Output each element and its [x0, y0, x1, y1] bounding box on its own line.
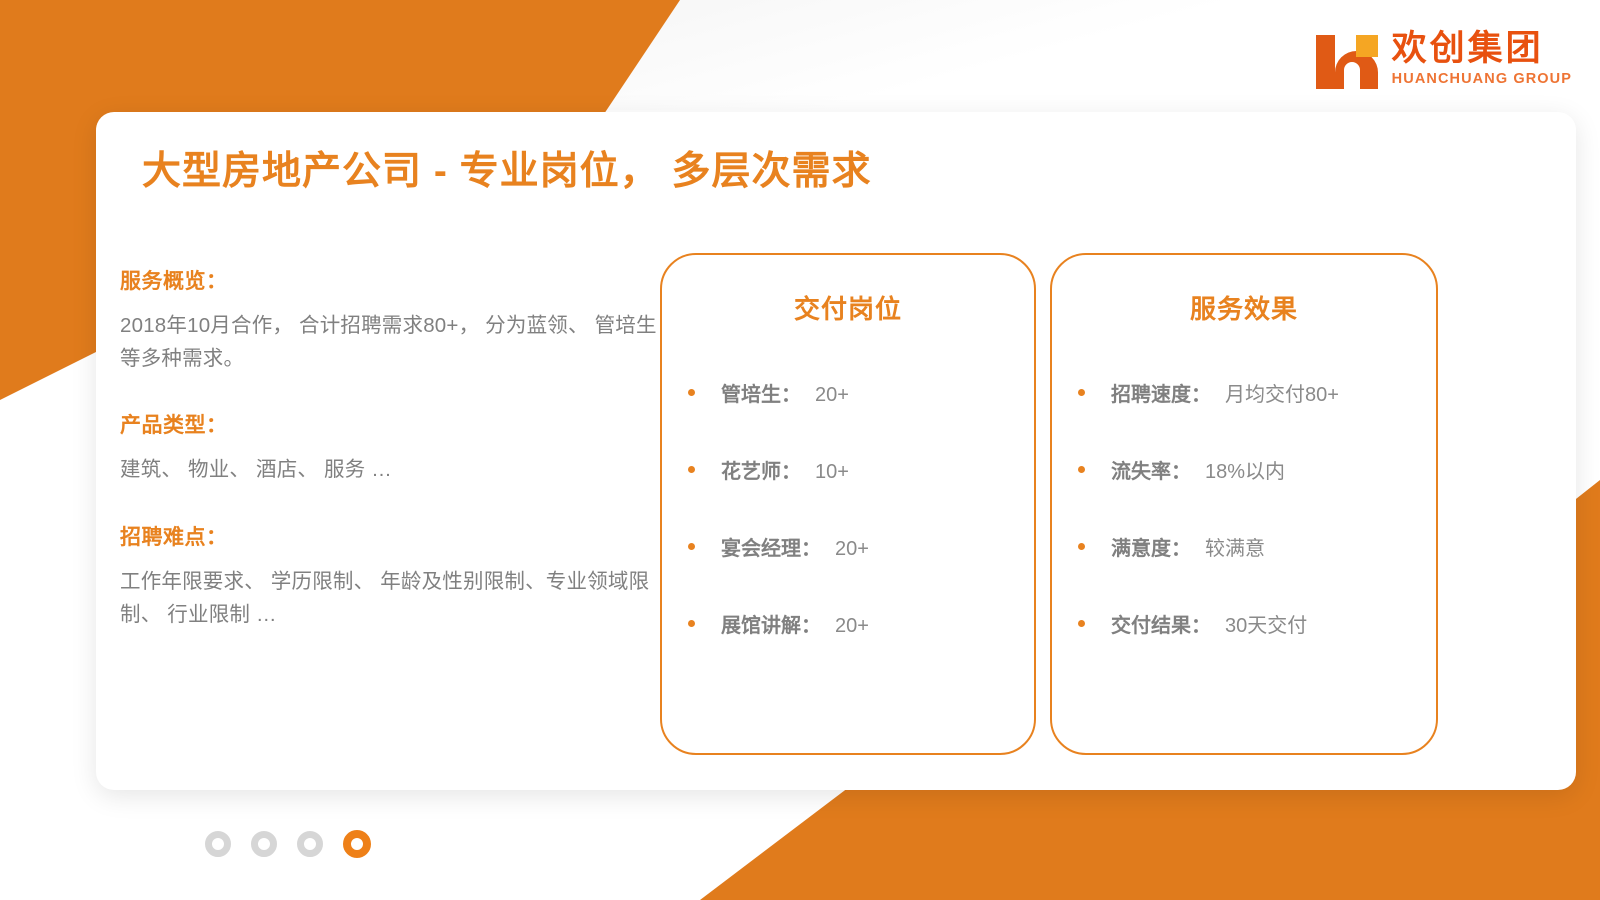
- item-label: 交付结果：: [1111, 609, 1211, 638]
- bullet-icon: [688, 543, 695, 550]
- logo-chinese-name: 欢创集团: [1392, 31, 1572, 68]
- info-body: 建筑、 物业、 酒店、 服务 …: [120, 453, 660, 486]
- list-item: 展馆讲解： 20+: [662, 609, 1034, 638]
- list-item: 交付结果： 30天交付: [1052, 609, 1436, 638]
- bullet-icon: [688, 620, 695, 627]
- logo-mark-icon: [1316, 29, 1378, 89]
- item-label: 花艺师：: [721, 455, 801, 484]
- bullet-icon: [1078, 466, 1085, 473]
- info-block-service-overview: 服务概览： 2018年10月合作， 合计招聘需求80+， 分为蓝领、 管培生等多…: [120, 265, 660, 375]
- logo-arch-cutout: [1344, 62, 1360, 89]
- panel-item-list: 管培生： 20+ 花艺师： 10+ 宴会经理： 20+ 展馆讲解： 20+: [662, 378, 1034, 638]
- item-label: 展馆讲解：: [721, 609, 821, 638]
- info-heading: 服务概览：: [120, 265, 660, 295]
- decor-bottom-gradient: [0, 0, 1250, 110]
- info-block-product-type: 产品类型： 建筑、 物业、 酒店、 服务 …: [120, 409, 660, 486]
- pagination-dot-4[interactable]: [343, 830, 371, 858]
- list-item: 花艺师： 10+: [662, 455, 1034, 484]
- pagination-dot-3[interactable]: [297, 831, 323, 857]
- list-item: 宴会经理： 20+: [662, 532, 1034, 561]
- item-value: 18%以内: [1205, 455, 1285, 484]
- slide-root: 欢创集团 HUANCHUANG GROUP 大型房地产公司 - 专业岗位， 多层…: [0, 0, 1600, 900]
- bullet-icon: [1078, 543, 1085, 550]
- list-item: 管培生： 20+: [662, 378, 1034, 407]
- bullet-icon: [1078, 620, 1085, 627]
- logo-wordmark: 欢创集团 HUANCHUANG GROUP: [1392, 31, 1572, 87]
- item-value: 较满意: [1205, 532, 1265, 561]
- logo-english-name: HUANCHUANG GROUP: [1392, 71, 1572, 87]
- panel-delivered-positions: 交付岗位 管培生： 20+ 花艺师： 10+ 宴会经理： 20+ 展馆讲解： 2…: [660, 253, 1036, 755]
- pagination-dot-2[interactable]: [251, 831, 277, 857]
- decor-top-left-wedge: [0, 0, 680, 120]
- item-label: 流失率：: [1111, 455, 1191, 484]
- page-title: 大型房地产公司 - 专业岗位， 多层次需求: [142, 140, 872, 196]
- info-body: 工作年限要求、 学历限制、 年龄及性别限制、专业领域限制、 行业限制 …: [120, 565, 660, 631]
- bullet-icon: [1078, 389, 1085, 396]
- item-value: 20+: [815, 384, 849, 407]
- panel-service-results: 服务效果 招聘速度： 月均交付80+ 流失率： 18%以内 满意度： 较满意 交…: [1050, 253, 1438, 755]
- panel-title: 交付岗位: [662, 289, 1034, 326]
- item-value: 20+: [835, 538, 869, 561]
- panel-title: 服务效果: [1052, 289, 1436, 326]
- item-label: 管培生：: [721, 378, 801, 407]
- item-label: 招聘速度：: [1111, 378, 1211, 407]
- logo-bar-shape: [1316, 35, 1335, 89]
- logo-square-shape: [1356, 35, 1378, 57]
- pagination-dots[interactable]: [205, 830, 371, 858]
- list-item: 满意度： 较满意: [1052, 532, 1436, 561]
- info-body: 2018年10月合作， 合计招聘需求80+， 分为蓝领、 管培生等多种需求。: [120, 309, 660, 375]
- list-item: 招聘速度： 月均交付80+: [1052, 378, 1436, 407]
- item-label: 满意度：: [1111, 532, 1191, 561]
- item-value: 10+: [815, 461, 849, 484]
- bullet-icon: [688, 389, 695, 396]
- info-heading: 招聘难点：: [120, 521, 660, 551]
- panel-item-list: 招聘速度： 月均交付80+ 流失率： 18%以内 满意度： 较满意 交付结果： …: [1052, 378, 1436, 638]
- pagination-dot-1[interactable]: [205, 831, 231, 857]
- item-value: 20+: [835, 615, 869, 638]
- item-value: 30天交付: [1225, 609, 1307, 638]
- bullet-icon: [688, 466, 695, 473]
- item-value: 月均交付80+: [1225, 378, 1339, 407]
- list-item: 流失率： 18%以内: [1052, 455, 1436, 484]
- company-logo: 欢创集团 HUANCHUANG GROUP: [1316, 26, 1572, 92]
- item-label: 宴会经理：: [721, 532, 821, 561]
- info-heading: 产品类型：: [120, 409, 660, 439]
- info-block-recruiting-challenges: 招聘难点： 工作年限要求、 学历限制、 年龄及性别限制、专业领域限制、 行业限制…: [120, 521, 660, 631]
- left-info-column: 服务概览： 2018年10月合作， 合计招聘需求80+， 分为蓝领、 管培生等多…: [120, 265, 660, 631]
